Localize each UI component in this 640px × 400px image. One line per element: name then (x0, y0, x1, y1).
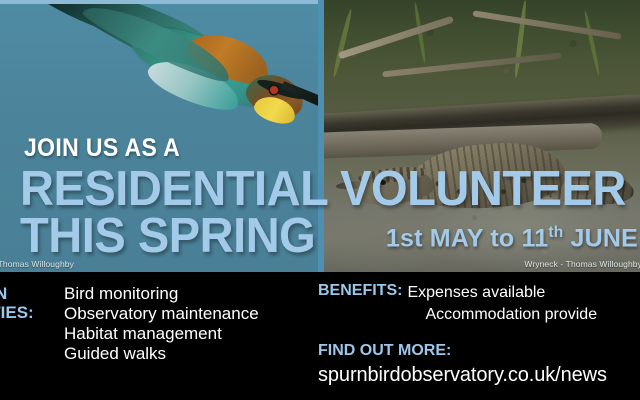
benefits-list: Expenses available Accommodation provide (402, 282, 597, 325)
list-item: Bird monitoring (64, 284, 259, 304)
headline-line-1: RESIDENTIAL VOLUNTEER (20, 162, 626, 216)
dates-ordinal: th (548, 224, 563, 241)
list-item: Habitat management (64, 324, 259, 344)
dates-text: 1st MAY to 11th JUNE (386, 224, 638, 253)
duties-list: Bird monitoring Observatory maintenance … (64, 284, 259, 364)
dates-prefix: 1st MAY to 11 (386, 224, 548, 252)
photo-band: r - Thomas Willoughby Wr (0, 0, 640, 272)
top-edge-strip (0, 0, 322, 4)
poster-root: r - Thomas Willoughby Wr (0, 0, 640, 400)
find-out-more-block: FIND OUT MORE: spurnbirdobservatory.co.u… (318, 342, 607, 387)
list-item: Observatory maintenance (64, 304, 259, 324)
photo-credit-right: Wryneck - Thomas Willoughby (524, 259, 640, 269)
benefits-block: BENEFITS: Expenses available Accommodati… (318, 282, 640, 325)
duties-label: AIN UTIES: (0, 284, 64, 364)
list-item: Guided walks (64, 344, 259, 364)
duties-block: AIN UTIES: Bird monitoring Observatory m… (0, 284, 328, 364)
list-item: Expenses available (407, 282, 597, 304)
dates-suffix: JUNE (563, 224, 638, 252)
info-panel: AIN UTIES: Bird monitoring Observatory m… (0, 272, 640, 400)
benefits-label: BENEFITS: (318, 282, 402, 325)
bird-eye (270, 86, 278, 94)
list-item: Accommodation provide (407, 304, 597, 326)
eyebrow-text: JOIN US AS A (24, 136, 180, 161)
duties-label-line-1: AIN (0, 284, 64, 303)
find-out-more-label: FIND OUT MORE: (318, 342, 607, 360)
duties-label-line-2: UTIES: (0, 303, 64, 322)
website-url[interactable]: spurnbirdobservatory.co.uk/news (318, 364, 607, 387)
bee-eater-illustration (18, 2, 318, 142)
